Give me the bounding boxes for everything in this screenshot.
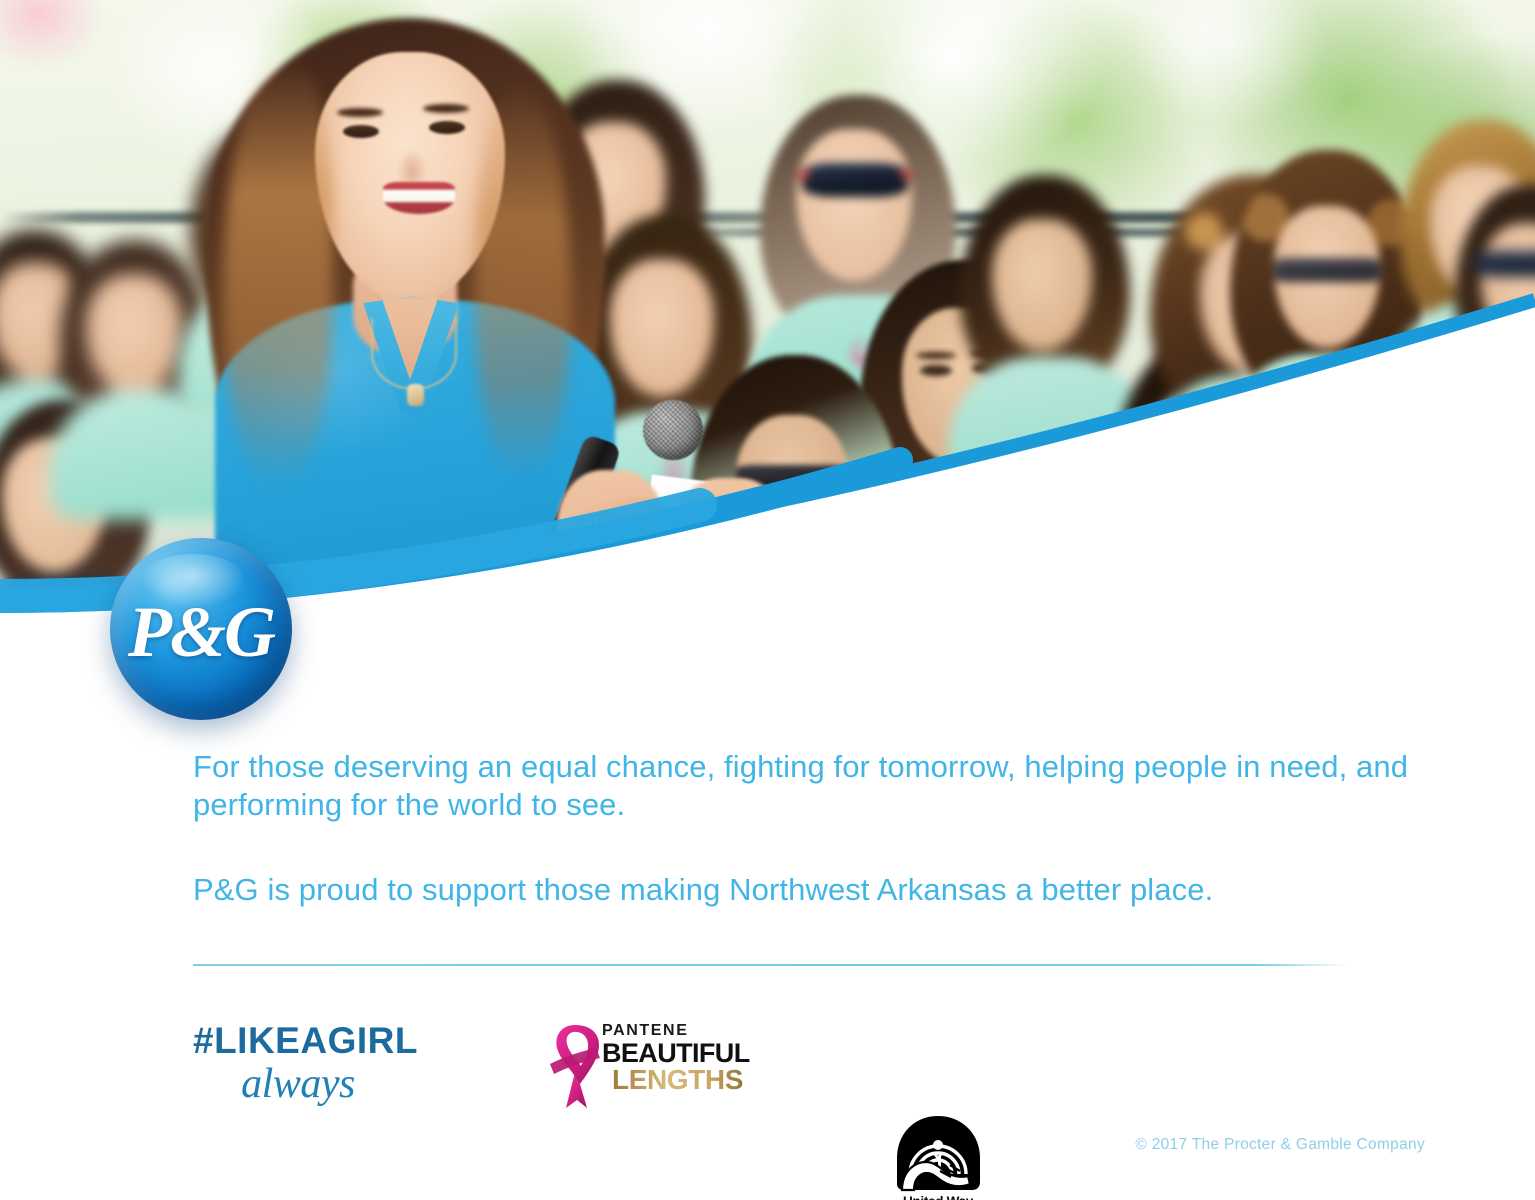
pg-logo-text: P&G xyxy=(128,596,274,668)
pantene-text-lockup: PANTENE BEAUTIFUL LENGTHS xyxy=(602,1022,750,1093)
speaker-eyebrow xyxy=(423,104,469,113)
eyeglasses-icon xyxy=(1274,258,1380,282)
always-wordmark: always xyxy=(193,1060,403,1108)
ad-copy-block: For those deserving an equal chance, fig… xyxy=(193,748,1443,908)
likeagirl-hashtag: #LIKEAGIRL xyxy=(193,1020,403,1062)
pantene-beautiful-lengths-logo: PANTENE BEAUTIFUL LENGTHS xyxy=(540,1016,715,1116)
speaker-nose xyxy=(397,148,427,182)
partner-logo-row: #LIKEAGIRL always PANTENE BEAUTIFUL xyxy=(0,1012,1535,1124)
copy-paragraph-2: P&G is proud to support those making Nor… xyxy=(193,871,1443,909)
copyright-notice: © 2017 The Procter & Gamble Company xyxy=(1135,1136,1425,1154)
sunglasses-icon xyxy=(802,163,908,197)
speaker-eye xyxy=(343,125,379,138)
advertisement-page: P&G For those deserving an equal chance,… xyxy=(0,0,1535,1200)
speaker-eyebrow xyxy=(337,108,383,117)
speaker-smile xyxy=(383,182,455,214)
pink-ribbon-icon xyxy=(544,1020,606,1112)
lengths-wordmark: LENGTHS xyxy=(612,1067,750,1094)
speaker-eye xyxy=(429,121,465,134)
likeagirl-always-logo: #LIKEAGIRL always xyxy=(193,1020,403,1108)
horizontal-divider xyxy=(193,964,1348,966)
pg-logo-badge: P&G xyxy=(110,538,292,720)
united-way-hand-rainbow-icon xyxy=(894,1114,982,1192)
copy-paragraph-1: For those deserving an equal chance, fig… xyxy=(193,748,1443,824)
united-way-wordmark: United Way xyxy=(890,1194,986,1200)
united-way-logo: United Way xyxy=(890,1114,986,1200)
sunglasses-icon xyxy=(1475,251,1535,277)
beautiful-wordmark: BEAUTIFUL xyxy=(602,1041,750,1067)
